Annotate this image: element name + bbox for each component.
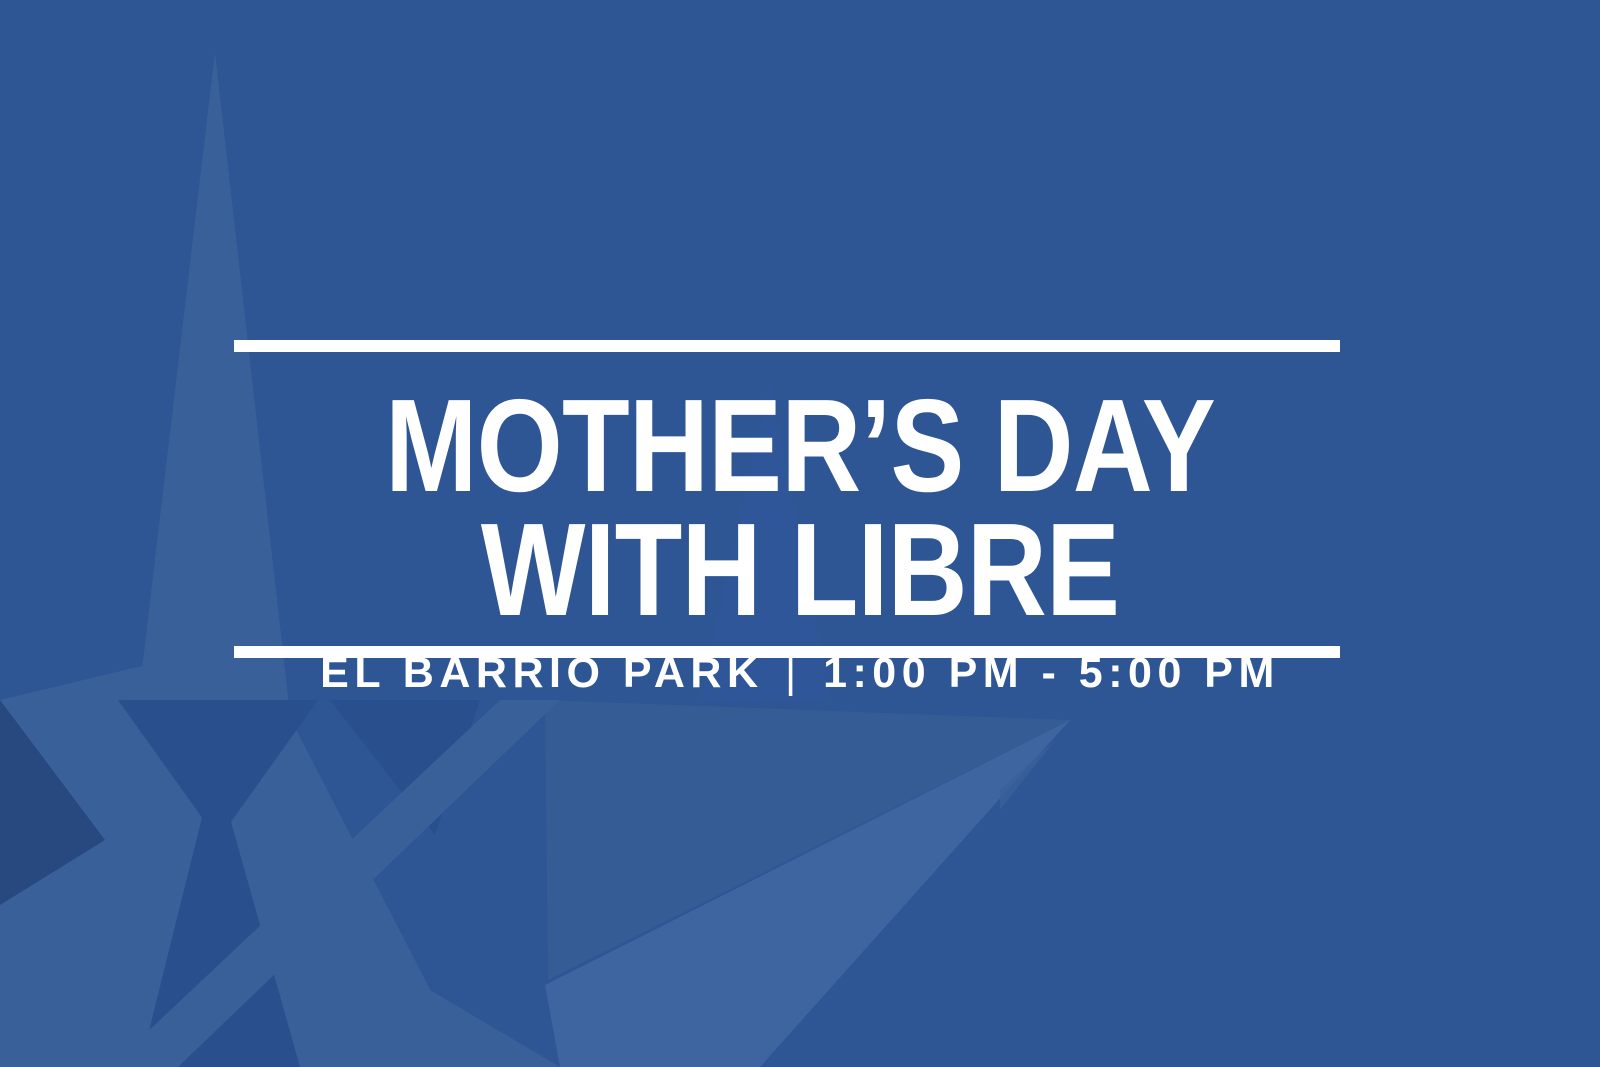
subtitle-line: EL BARRIO PARK | 1:00 PM - 5:00 PM	[0, 652, 1600, 695]
subtitle-separator: |	[781, 649, 806, 697]
subtitle-time: 1:00 PM - 5:00 PM	[823, 649, 1280, 697]
event-poster: MOTHER’S DAY WITH LIBRE EL BARRIO PARK |…	[0, 0, 1600, 1067]
top-divider-rule	[234, 340, 1340, 352]
poster-content: MOTHER’S DAY WITH LIBRE EL BARRIO PARK |…	[0, 0, 1600, 1067]
subtitle-venue: EL BARRIO PARK	[320, 649, 763, 697]
headline-line-1: MOTHER’S DAY	[128, 380, 1472, 512]
headline-line-2: WITH LIBRE	[128, 504, 1472, 636]
